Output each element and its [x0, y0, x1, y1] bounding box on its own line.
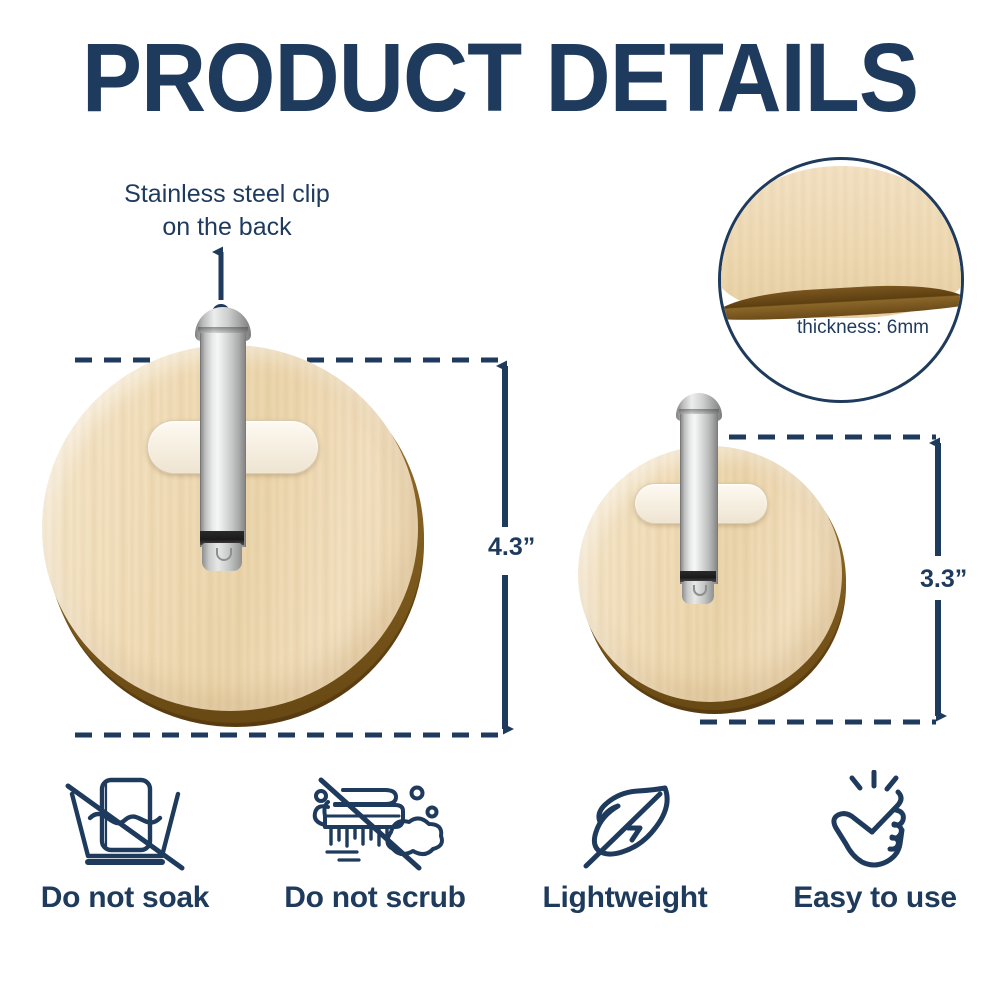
product-details-infographic: PRODUCT DETAILS Stainless steel clip on … [0, 0, 1000, 1000]
thickness-label: thickness: 6mm [797, 317, 929, 339]
large-clip-strip [200, 333, 246, 547]
feature-label-no-soak: Do not soak [41, 881, 209, 915]
no-scrub-icon [295, 770, 455, 875]
feature-item-easy-to-use: Easy to use [750, 770, 1000, 915]
small-clip-strip [680, 414, 718, 584]
small-steel-clip [671, 393, 723, 599]
feature-item-no-scrub: Do not scrub [250, 770, 500, 915]
feature-row: Do not soak [0, 770, 1000, 950]
large-steel-clip [189, 307, 251, 562]
feather-icon [560, 770, 690, 875]
thickness-magnifier [718, 157, 964, 403]
feature-label-easy-to-use: Easy to use [793, 881, 956, 915]
clip-callout-line2: on the back [72, 211, 382, 244]
large-dimension-label: 4.3” [488, 533, 535, 562]
small-dimension-label: 3.3” [920, 565, 967, 594]
no-soak-icon [50, 770, 200, 875]
page-title: PRODUCT DETAILS [35, 30, 965, 126]
clip-callout-line1: Stainless steel clip [124, 180, 330, 208]
feature-label-no-scrub: Do not scrub [284, 881, 465, 915]
feature-item-lightweight: Lightweight [500, 770, 750, 915]
feature-label-lightweight: Lightweight [543, 881, 708, 915]
clip-callout-text: Stainless steel clip on the back [72, 178, 382, 244]
feature-item-no-soak: Do not soak [0, 770, 250, 915]
tap-hand-icon [810, 770, 940, 875]
